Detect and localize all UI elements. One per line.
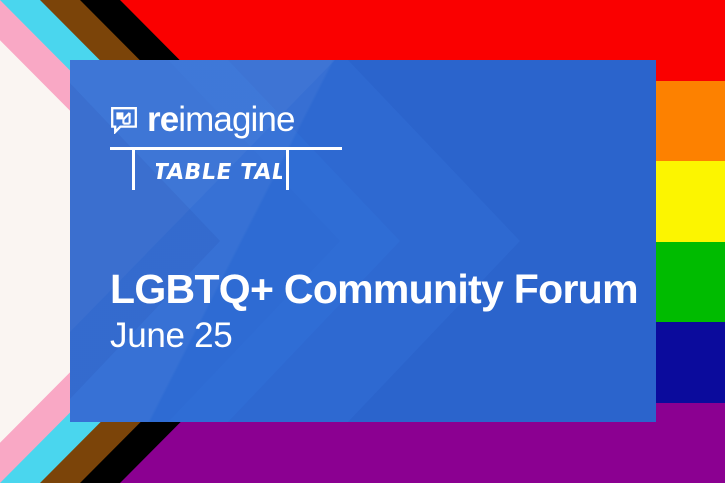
event-promo-graphic: reimagine TABLE TALK LGBTQ+ Community Fo… — [0, 0, 725, 483]
reimagine-logo-lockup: reimagine TABLE TALK — [110, 100, 346, 194]
card-content: reimagine TABLE TALK LGBTQ+ Community Fo… — [70, 60, 656, 422]
reimagine-wordmark: reimagine — [147, 102, 295, 137]
table-talk-label: TABLE TALK — [156, 152, 282, 188]
table-talk-row: TABLE TALK — [110, 150, 342, 194]
reimagine-chat-mark-icon — [110, 106, 138, 134]
content-card: reimagine TABLE TALK LGBTQ+ Community Fo… — [70, 60, 656, 422]
bracket-tick-left — [132, 150, 135, 190]
bracket-tick-right — [286, 150, 289, 190]
event-title: LGBTQ+ Community Forum — [110, 268, 638, 311]
table-talk-text: TABLE TALK — [156, 159, 282, 185]
wordmark-light-part: imagine — [178, 100, 294, 139]
wordmark-bold-part: re — [147, 100, 178, 139]
event-date: June 25 — [110, 315, 638, 356]
headline-block: LGBTQ+ Community Forum June 25 — [110, 268, 638, 356]
logo-row: reimagine — [110, 100, 346, 140]
